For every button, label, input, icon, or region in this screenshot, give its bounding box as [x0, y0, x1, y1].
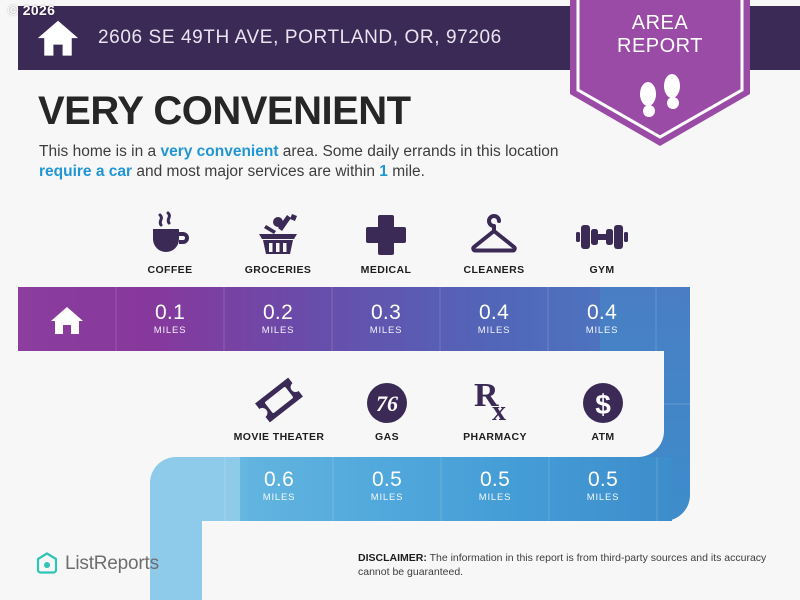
badge-line-1: AREA	[570, 12, 750, 35]
category-atm: $ ATM	[549, 372, 657, 443]
category-label: COFFEE	[116, 264, 224, 276]
distance-medical: 0.3 MILES	[332, 301, 440, 336]
category-icon-row-2: MOVIE THEATER 76 GAS R x PHARMACY	[225, 372, 657, 443]
distance-unit: MILES	[549, 492, 657, 503]
category-pharmacy: R x PHARMACY	[441, 372, 549, 443]
distance-unit: MILES	[225, 492, 333, 503]
distance-unit: MILES	[116, 325, 224, 336]
description-text: area. Some daily errands in this locatio…	[279, 143, 559, 160]
category-label: PHARMACY	[441, 431, 549, 443]
distance-atm: 0.5 MILES	[549, 468, 657, 503]
movie-ticket-icon	[225, 372, 333, 424]
distance-value: 0.5	[441, 468, 549, 491]
category-gas: 76 GAS	[333, 372, 441, 443]
property-address: 2606 SE 49TH AVE, PORTLAND, OR, 97206	[98, 27, 502, 49]
gas-76-icon: 76	[333, 372, 441, 424]
category-label: GROCERIES	[224, 264, 332, 276]
grocery-basket-icon	[224, 205, 332, 257]
distance-row-2: 0.6 MILES 0.5 MILES 0.5 MILES 0.5 MILES	[225, 468, 657, 503]
description-text: mile.	[388, 163, 425, 180]
summary-description: This home is in a very convenient area. …	[39, 142, 559, 182]
svg-text:$: $	[595, 389, 611, 420]
category-cleaners: CLEANERS	[440, 205, 548, 276]
category-gym: GYM	[548, 205, 656, 276]
description-text: This home is in a	[39, 143, 160, 160]
description-highlight: 1	[379, 163, 388, 180]
medical-cross-icon	[332, 205, 440, 257]
category-movie-theater: MOVIE THEATER	[225, 372, 333, 443]
coffee-cup-icon	[116, 205, 224, 257]
distance-value: 0.1	[116, 301, 224, 324]
distance-value: 0.3	[332, 301, 440, 324]
svg-text:76: 76	[376, 391, 398, 416]
category-coffee: COFFEE	[116, 205, 224, 276]
category-label: MEDICAL	[332, 264, 440, 276]
category-label: GYM	[548, 264, 656, 276]
distance-value: 0.5	[549, 468, 657, 491]
listreports-logo: ListReports	[36, 552, 159, 576]
distance-value: 0.4	[548, 301, 656, 324]
category-icon-row-1: COFFEE	[116, 205, 656, 276]
rx-icon: R x	[441, 372, 549, 424]
disclaimer-label: DISCLAIMER:	[358, 552, 427, 564]
distance-coffee: 0.1 MILES	[116, 301, 224, 336]
description-highlight: require a car	[39, 163, 132, 180]
home-icon	[36, 18, 80, 58]
category-label: CLEANERS	[440, 264, 548, 276]
category-label: MOVIE THEATER	[225, 431, 333, 443]
distance-value: 0.2	[224, 301, 332, 324]
category-groceries: GROCERIES	[224, 205, 332, 276]
distance-value: 0.4	[440, 301, 548, 324]
distance-unit: MILES	[333, 492, 441, 503]
distance-movie-theater: 0.6 MILES	[225, 468, 333, 503]
svg-text:x: x	[492, 396, 506, 424]
description-text: and most major services are within	[132, 163, 379, 180]
category-label: GAS	[333, 431, 441, 443]
category-label: ATM	[549, 431, 657, 443]
distance-row-1: 0.1 MILES 0.2 MILES 0.3 MILES 0.4 MILES …	[116, 301, 656, 336]
badge-line-2: REPORT	[570, 35, 750, 58]
distance-cleaners: 0.4 MILES	[440, 301, 548, 336]
copyright-label: © 2026	[8, 2, 55, 18]
distance-gym: 0.4 MILES	[548, 301, 656, 336]
distance-gas: 0.5 MILES	[333, 468, 441, 503]
distance-unit: MILES	[440, 325, 548, 336]
category-medical: MEDICAL	[332, 205, 440, 276]
home-marker-cell	[40, 304, 94, 336]
description-highlight: very convenient	[160, 143, 278, 160]
area-report-infographic: 2606 SE 49TH AVE, PORTLAND, OR, 97206 © …	[0, 0, 800, 600]
distance-unit: MILES	[224, 325, 332, 336]
page-title: VERY CONVENIENT	[38, 89, 411, 134]
distance-unit: MILES	[441, 492, 549, 503]
clothes-hanger-icon	[440, 205, 548, 257]
listreports-logo-icon	[36, 552, 58, 576]
listreports-logo-text: ListReports	[65, 553, 159, 575]
distance-pharmacy: 0.5 MILES	[441, 468, 549, 503]
distance-value: 0.6	[225, 468, 333, 491]
distance-groceries: 0.2 MILES	[224, 301, 332, 336]
area-report-badge: AREA REPORT	[570, 0, 750, 146]
disclaimer: DISCLAIMER: The information in this repo…	[358, 551, 778, 579]
dumbbell-icon	[548, 205, 656, 257]
distance-unit: MILES	[332, 325, 440, 336]
distance-unit: MILES	[548, 325, 656, 336]
badge-label: AREA REPORT	[570, 12, 750, 58]
distance-value: 0.5	[333, 468, 441, 491]
dollar-sign-icon: $	[549, 372, 657, 424]
